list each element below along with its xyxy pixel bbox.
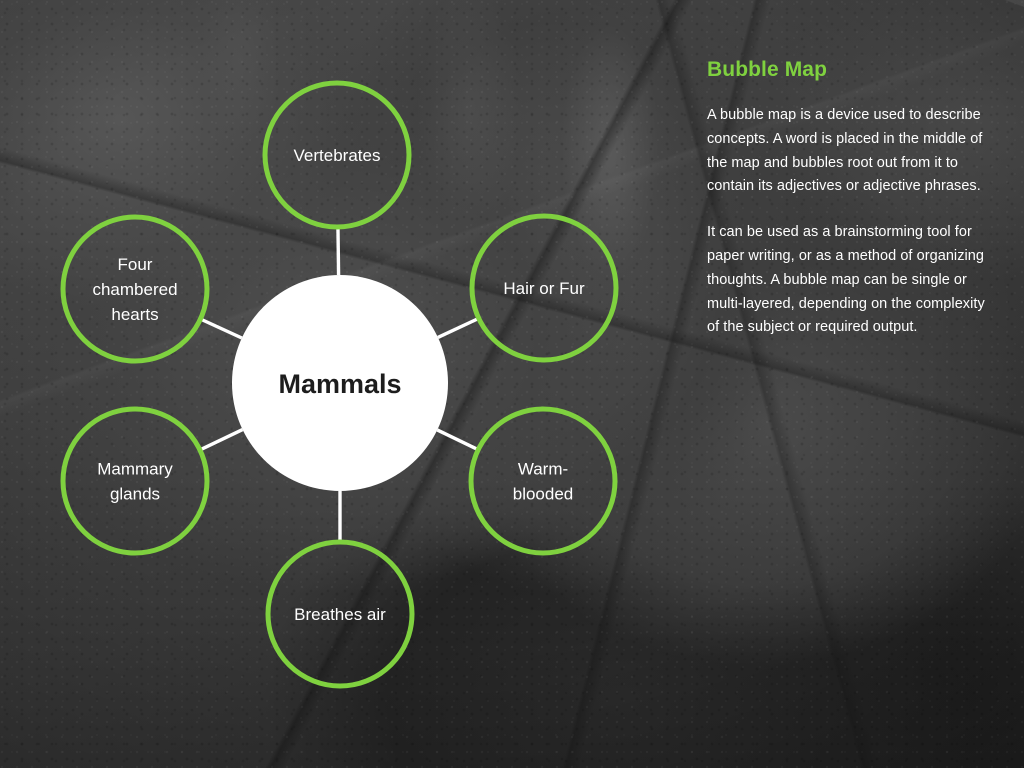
description-panel: Bubble Map A bubble map is a device used… [707, 58, 985, 340]
bubble-vertebrates[interactable]: Vertebrates [265, 83, 409, 227]
panel-paragraph-2: It can be used as a brainstorming tool f… [707, 221, 985, 340]
bubble-label-warm-blooded: Warm-blooded [513, 460, 574, 504]
connector-mammary-glands [200, 430, 243, 450]
bubble-four-chambered-hearts[interactable]: Fourchamberedhearts [63, 217, 207, 361]
bubble-map-slide: VertebratesHair or FurWarm-bloodedBreath… [0, 0, 1024, 768]
connector-vertebrates [338, 227, 339, 275]
connector-four-chambered-hearts [200, 319, 241, 338]
bubble-label-breathes-air: Breathes air [294, 605, 386, 624]
panel-title: Bubble Map [707, 58, 985, 82]
bubble-warm-blooded[interactable]: Warm-blooded [471, 409, 615, 553]
bubble-label-vertebrates: Vertebrates [294, 146, 381, 165]
bubble-mammary-glands[interactable]: Mammaryglands [63, 409, 207, 553]
bubble-hair-or-fur[interactable]: Hair or Fur [472, 216, 616, 360]
bubble-label-hair-or-fur: Hair or Fur [503, 279, 585, 298]
center-bubble-group[interactable]: Mammals [232, 275, 448, 491]
bubble-label-four-chambered-hearts: Fourchamberedhearts [92, 255, 177, 324]
bubble-label-mammary-glands: Mammaryglands [97, 460, 173, 504]
panel-paragraph-1: A bubble map is a device used to describ… [707, 104, 985, 199]
connector-hair-or-fur [438, 318, 479, 337]
connector-warm-blooded [437, 430, 478, 450]
center-bubble-label: Mammals [278, 369, 401, 399]
bubble-ring-warm-blooded [471, 409, 615, 553]
bubble-ring-mammary-glands [63, 409, 207, 553]
bubble-breathes-air[interactable]: Breathes air [268, 542, 412, 686]
